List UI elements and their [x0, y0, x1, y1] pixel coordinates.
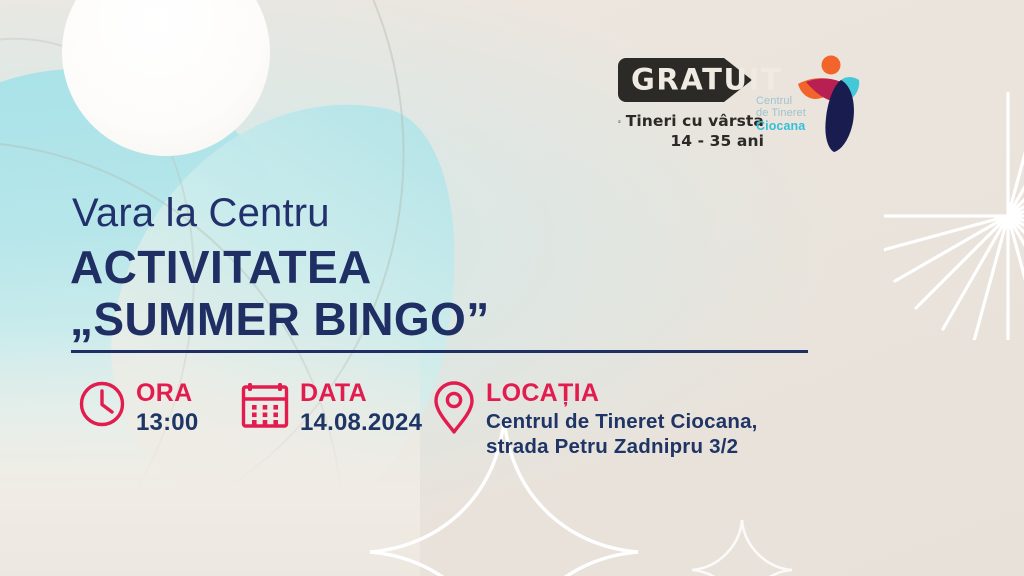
age-restriction: Tineri cu vârsta 14 - 35 ani [618, 112, 764, 152]
detail-item-time: ORA 13:00 [78, 378, 240, 437]
gratuit-tag: GRATUIT [618, 58, 752, 102]
logo-line-3: Ciocana [756, 120, 806, 133]
logo-line-1: Centrul [756, 96, 806, 108]
detail-item-date: DATA 14.08.2024 [240, 378, 432, 437]
person-icon [618, 114, 621, 129]
map-pin-icon [432, 380, 476, 441]
age-line-2: 14 - 35 ani [618, 132, 764, 152]
organization-logo: Centrul de Tineret Ciocana [756, 52, 864, 156]
free-badge: GRATUIT Tineri cu vârsta 14 - 35 ani [618, 58, 764, 152]
detail-value-location-line-2: strada Petru Zadnipru 3/2 [486, 434, 758, 459]
event-details: ORA 13:00 [78, 378, 758, 459]
event-poster: GRATUIT Tineri cu vârsta 14 - 35 ani Cen [0, 0, 1024, 576]
logo-wordmark: Centrul de Tineret Ciocana [756, 96, 806, 134]
title-divider [71, 350, 808, 353]
age-line-1: Tineri cu vârsta [626, 112, 764, 132]
calendar-icon [240, 380, 290, 435]
page-title-line-1: ACTIVITATEA [70, 240, 372, 294]
detail-item-location: LOCAȚIA Centrul de Tineret Ciocana, stra… [432, 378, 758, 459]
detail-value-time: 13:00 [136, 409, 198, 437]
ctc-figure-logo-icon [796, 52, 864, 154]
detail-value-date: 14.08.2024 [300, 409, 422, 437]
detail-label-location: LOCAȚIA [486, 380, 758, 407]
page-title-line-2: „SUMMER BINGO” [70, 292, 490, 346]
detail-label-date: DATA [300, 380, 422, 407]
clock-icon [78, 380, 126, 433]
logo-line-2: de Tineret [756, 108, 806, 120]
page-kicker: Vara la Centru [72, 191, 330, 236]
detail-label-time: ORA [136, 380, 198, 407]
detail-value-location-line-1: Centrul de Tineret Ciocana, [486, 409, 758, 434]
